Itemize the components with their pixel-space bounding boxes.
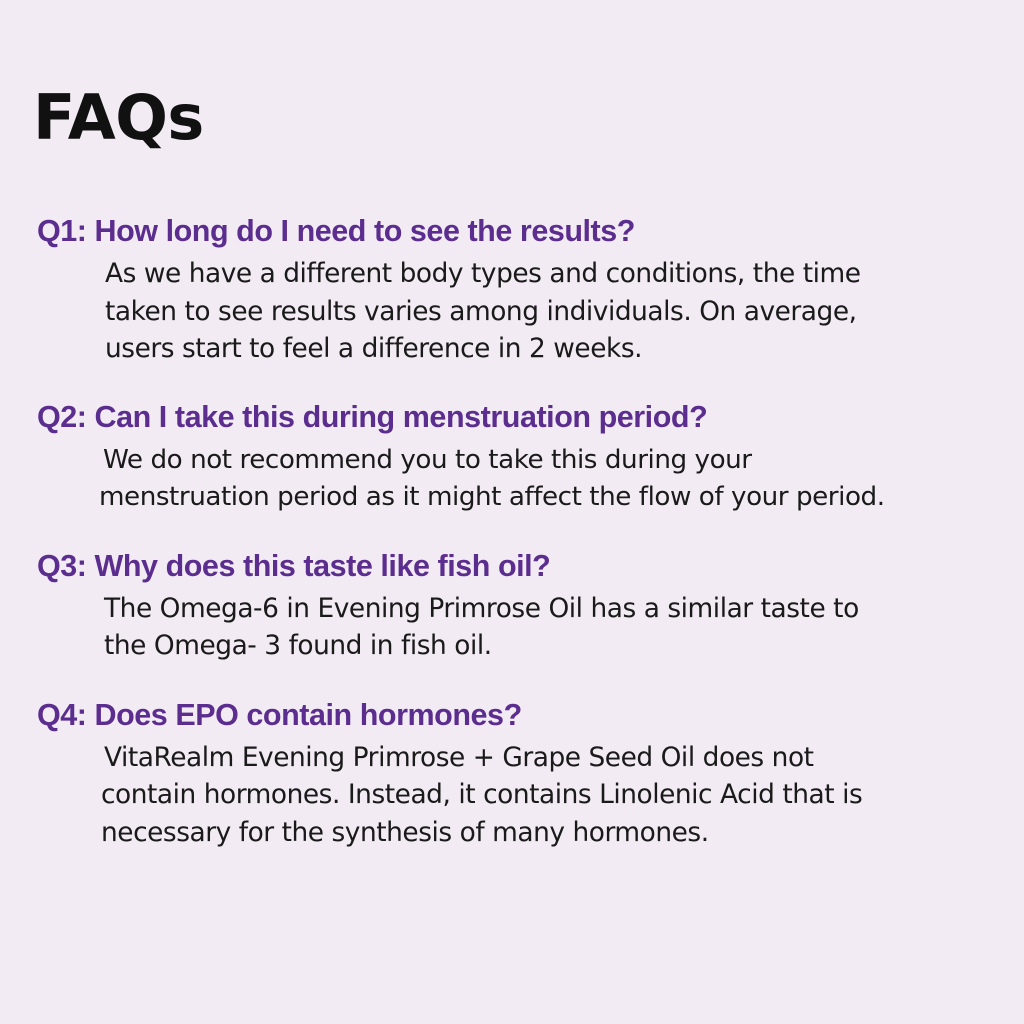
faq-answer-line: users start to feel a difference in 2 we… [105,330,1018,367]
faq-answer-line: We do not recommend you to take this dur… [103,442,1018,479]
faq-answer-line: menstruation period as it might affect t… [99,479,1018,516]
faq-item: Q3: Why does this taste like fish oil? T… [0,547,1024,665]
faq-question-q1: Q1: How long do I need to see the result… [0,212,1024,251]
faq-answer-q1: As we have a different body types and co… [0,255,1024,367]
faq-answer-line: contain hormones. Instead, it contains L… [101,776,1018,813]
faq-question-q3: Q3: Why does this taste like fish oil? [0,547,1024,586]
faq-question-q4: Q4: Does EPO contain hormones? [0,696,1024,735]
faq-question-q2: Q2: Can I take this during menstruation … [0,398,1024,437]
faq-item: Q2: Can I take this during menstruation … [0,398,1024,515]
faq-answer-q2: We do not recommend you to take this dur… [0,442,1024,516]
page-title: FAQs [33,86,204,149]
faq-answer-line: The Omega-6 in Evening Primrose Oil has … [104,590,1018,627]
faq-answer-q3: The Omega-6 in Evening Primrose Oil has … [0,590,1024,665]
faq-answer-line: As we have a different body types and co… [105,255,1018,292]
faq-card: FAQs Q1: How long do I need to see the r… [0,0,1024,1024]
faq-answer-line: necessary for the synthesis of many horm… [101,814,1018,851]
faq-answer-line: the Omega- 3 found in fish oil. [104,627,1018,664]
faq-answer-line: taken to see results varies among indivi… [105,293,1018,330]
faq-item: Q4: Does EPO contain hormones? VitaRealm… [0,696,1024,851]
faq-list: Q1: How long do I need to see the result… [0,212,1024,851]
faq-answer-q4: VitaRealm Evening Primrose + Grape Seed … [0,739,1024,851]
faq-answer-line: VitaRealm Evening Primrose + Grape Seed … [104,739,1018,776]
faq-item: Q1: How long do I need to see the result… [0,212,1024,367]
